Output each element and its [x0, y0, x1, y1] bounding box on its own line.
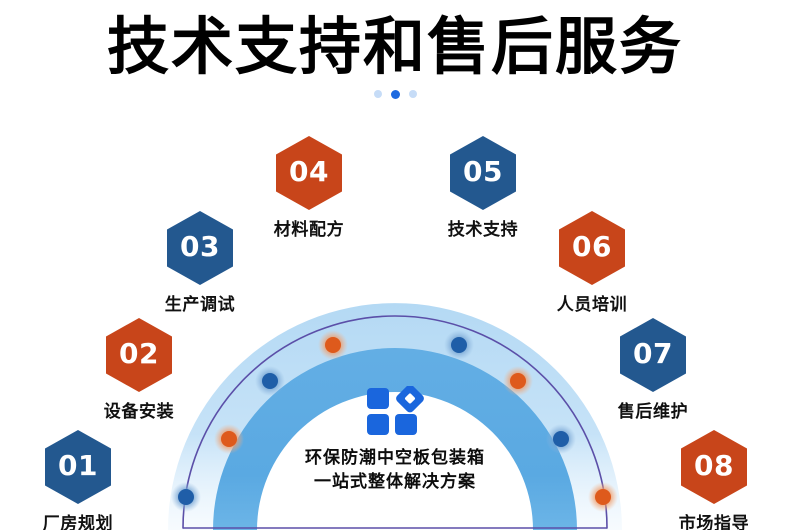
hexagon-03: 03: [167, 211, 233, 285]
dot-center-icon: [391, 90, 400, 99]
step-number-03: 03: [180, 233, 220, 261]
step-label-02: 设备安装: [79, 397, 199, 422]
step-node-03[interactable]: 03 生产调试: [140, 211, 260, 315]
step-label-04: 材料配方: [249, 215, 369, 240]
hexagon-06: 06: [559, 211, 625, 285]
step-number-01: 01: [58, 452, 98, 480]
step-node-04[interactable]: 04 材料配方: [249, 136, 369, 240]
hexagon-07: 07: [620, 318, 686, 392]
step-number-07: 07: [633, 340, 673, 368]
step-label-01: 厂房规划: [18, 509, 138, 530]
center-caption-line1: 环保防潮中空板包装箱: [235, 446, 555, 470]
center-caption: 环保防潮中空板包装箱 一站式整体解决方案: [235, 446, 555, 494]
step-label-08: 市场指导: [654, 509, 774, 530]
step-node-05[interactable]: 05 技术支持: [423, 136, 543, 240]
center-summary: 环保防潮中空板包装箱 一站式整体解决方案: [235, 386, 555, 494]
hexagon-02: 02: [106, 318, 172, 392]
dot-left-icon: [374, 90, 382, 98]
step-number-06: 06: [572, 233, 612, 261]
step-node-01[interactable]: 01 厂房规划: [18, 430, 138, 530]
arc-marker-04: [318, 330, 348, 360]
arc-marker-01: [171, 482, 201, 512]
decorative-dots: [0, 87, 790, 101]
step-node-07[interactable]: 07 售后维护: [593, 318, 713, 422]
header: 技术支持和售后服务: [0, 12, 790, 101]
step-node-02[interactable]: 02 设备安装: [79, 318, 199, 422]
poster-root: 技术支持和售后服务 环保防潮中空板包装箱 一站式整体解决方案 01 厂房规划: [0, 0, 790, 530]
hexagon-04: 04: [276, 136, 342, 210]
step-label-03: 生产调试: [140, 290, 260, 315]
step-label-05: 技术支持: [423, 215, 543, 240]
center-caption-line2: 一站式整体解决方案: [235, 470, 555, 494]
step-label-06: 人员培训: [532, 290, 652, 315]
page-title: 技术支持和售后服务: [0, 12, 790, 81]
hexagon-01: 01: [45, 430, 111, 504]
step-node-06[interactable]: 06 人员培训: [532, 211, 652, 315]
step-number-08: 08: [694, 452, 734, 480]
dot-right-icon: [409, 90, 417, 98]
step-node-08[interactable]: 08 市场指导: [654, 430, 774, 530]
grid-diamond-icon: [365, 386, 425, 438]
arc-marker-08: [588, 482, 618, 512]
hexagon-05: 05: [450, 136, 516, 210]
arc-marker-05: [444, 330, 474, 360]
step-number-04: 04: [289, 158, 329, 186]
step-label-07: 售后维护: [593, 397, 713, 422]
step-number-02: 02: [119, 340, 159, 368]
step-number-05: 05: [463, 158, 503, 186]
hexagon-08: 08: [681, 430, 747, 504]
